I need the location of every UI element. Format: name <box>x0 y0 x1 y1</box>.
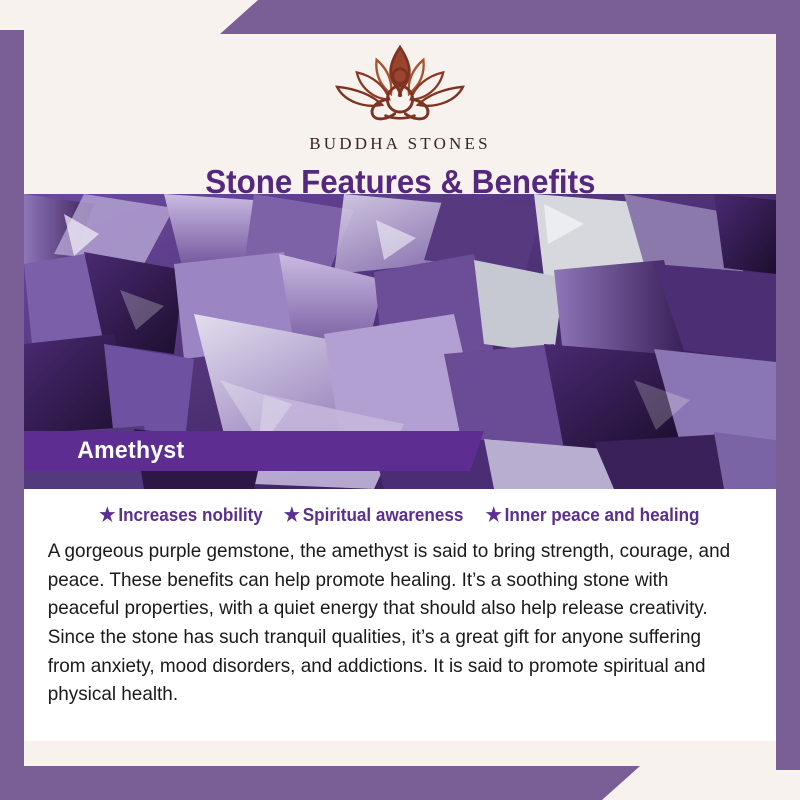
frame-border-bottom <box>0 766 640 800</box>
brand-name: BUDDHA STONES <box>309 134 491 154</box>
content-card: BUDDHA STONES Stone Features & Benefits <box>24 34 776 766</box>
feature-item-0: ★ Increases nobility <box>99 505 263 526</box>
feature-label: Spiritual awareness <box>303 505 464 526</box>
frame-border-left <box>0 30 24 800</box>
lotus-meditation-icon <box>310 40 490 132</box>
frame-border-right <box>776 0 800 770</box>
feature-item-1: ★ Spiritual awareness <box>284 505 464 526</box>
feature-list: ★ Increases nobility ★ Spiritual awarene… <box>38 505 762 526</box>
star-icon: ★ <box>284 506 300 525</box>
body-section: ★ Increases nobility ★ Spiritual awarene… <box>24 489 776 741</box>
star-icon: ★ <box>99 506 115 525</box>
stone-name-label: Amethyst <box>27 437 184 465</box>
stone-name-banner: Amethyst <box>24 431 484 471</box>
feature-label: Inner peace and healing <box>505 505 700 526</box>
feature-label: Increases nobility <box>118 505 262 526</box>
stone-description: A gorgeous purple gemstone, the amethyst… <box>38 537 740 709</box>
infographic-page: BUDDHA STONES Stone Features & Benefits <box>0 0 800 800</box>
feature-item-2: ★ Inner peace and healing <box>486 505 700 526</box>
star-icon: ★ <box>486 506 502 525</box>
hero-image: Amethyst <box>24 194 776 489</box>
brand-header: BUDDHA STONES Stone Features & Benefits <box>24 34 776 194</box>
frame-border-top <box>220 0 800 34</box>
